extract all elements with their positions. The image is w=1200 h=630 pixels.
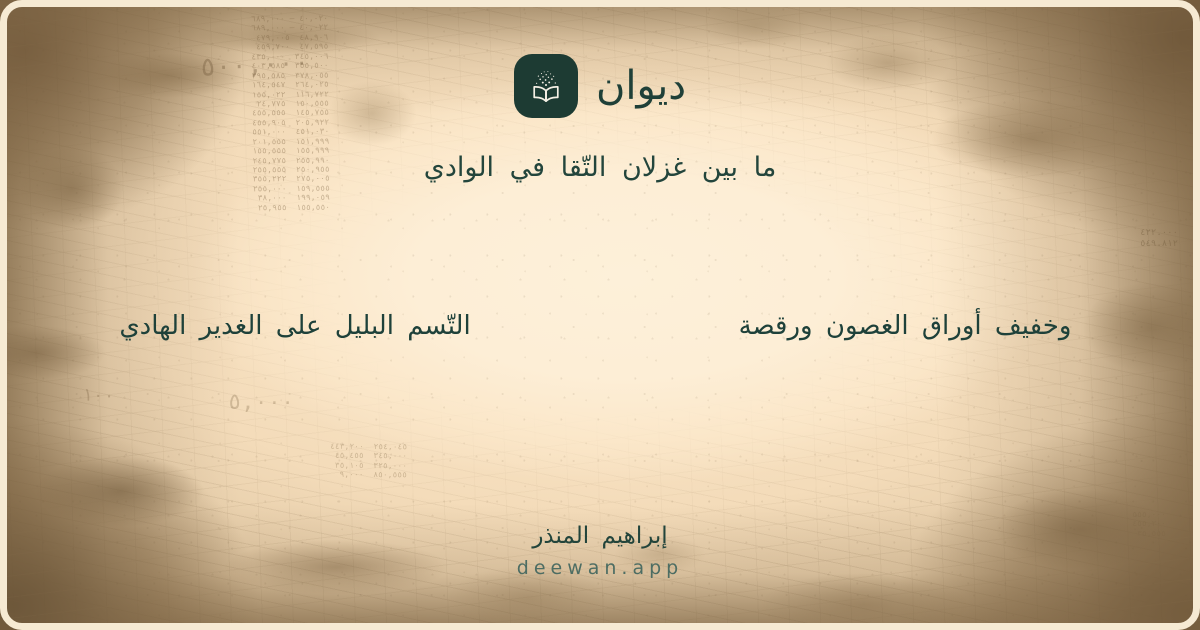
verse-list: وخفيف أوراق الغصون ورقصة التّسم البليل ع…: [0, 307, 1200, 346]
deewan-logo: [514, 54, 578, 118]
site-url: deewan.app: [517, 559, 683, 578]
verse-left-hemistich: التّسم البليل على الغدير الهادي: [0, 307, 600, 346]
open-book-sparkles-icon: [526, 66, 566, 106]
verse-right-hemistich: وخفيف أوراق الغصون ورقصة: [600, 307, 1200, 346]
card-content: ديوان ما بين غزلان التّقا في الوادي وخفي…: [0, 0, 1200, 630]
brand-header: ديوان: [514, 54, 686, 118]
poem-title: ما بين غزلان التّقا في الوادي: [424, 148, 777, 187]
poem-author: إبراهيم المنذر: [532, 525, 667, 548]
verse-row: وخفيف أوراق الغصون ورقصة التّسم البليل ع…: [0, 307, 1200, 346]
poem-card: ٤٠,٠٢٠ – ٦٨٩,٠٠٠ ٤٠,٠٢٢ – ٦٨٩,٠٠٠ ٤٨,٩٠٦…: [0, 0, 1200, 630]
card-footer: إبراهيم المنذر deewan.app: [0, 525, 1200, 578]
brand-name: ديوان: [596, 66, 686, 106]
